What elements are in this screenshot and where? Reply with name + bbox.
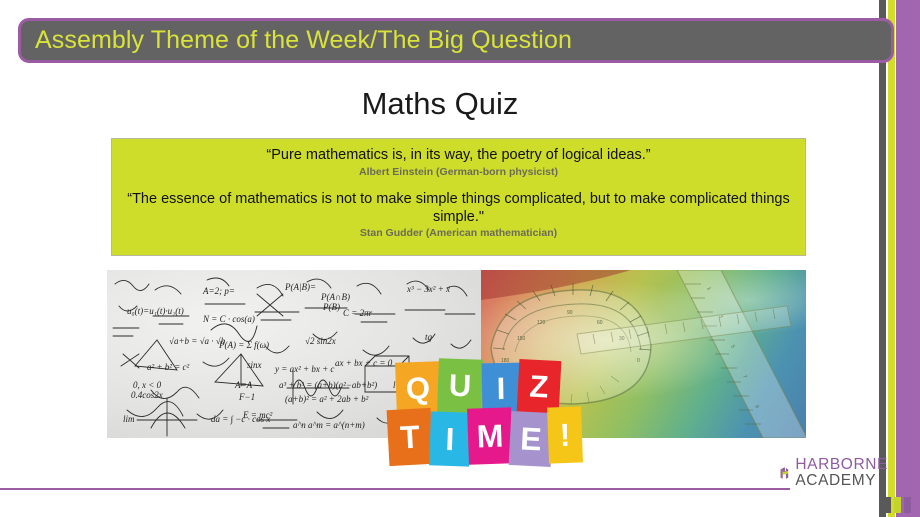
quiz-tile-T: T: [387, 408, 434, 466]
svg-text:120: 120: [537, 320, 546, 326]
harborne-academy-logo: HARBORNE ACADEMY: [780, 450, 888, 496]
svg-text:y = ax² + bx + c: y = ax² + bx + c: [274, 364, 334, 374]
svg-text:0.4cos2x: 0.4cos2x: [131, 390, 163, 400]
logo-line-academy: ACADEMY: [795, 473, 888, 489]
svg-text:0, x < 0: 0, x < 0: [133, 380, 162, 390]
accent-block-gray: [884, 497, 891, 513]
quiz-tile-U: U: [437, 358, 483, 414]
harborne-h-monogram-icon: [780, 452, 790, 494]
quiz-tile-exclamation: !: [547, 406, 583, 463]
logo-line-harborne: HARBORNE: [795, 457, 888, 473]
svg-text:0: 0: [637, 358, 640, 364]
svg-text:sinx: sinx: [247, 360, 262, 370]
svg-text:u₀(t)=u₁(t)·u₂(t): u₀(t)=u₁(t)·u₂(t): [127, 306, 184, 316]
svg-text:P(A|B)=: P(A|B)=: [284, 282, 316, 292]
svg-text:60: 60: [597, 320, 603, 326]
svg-text:a³ + b³ = (a+b)(a²−ab+b²): a³ + b³ = (a+b)(a²−ab+b²): [279, 380, 377, 390]
edge-stripe-gray: [879, 0, 886, 517]
svg-text:90: 90: [567, 310, 573, 316]
quote-item: “Pure mathematics is, in its way, the po…: [124, 147, 793, 179]
quiz-time-graphic: Q U I Z T I M E !: [394, 362, 580, 466]
quote-text: “The essence of mathematics is not to ma…: [124, 191, 793, 226]
logo-wordmark: HARBORNE ACADEMY: [795, 457, 888, 489]
header-banner: Assembly Theme of the Week/The Big Quest…: [18, 18, 894, 63]
quiz-tile-M: M: [467, 407, 513, 465]
svg-text:√a+b = √a · √b: √a+b = √a · √b: [169, 336, 226, 346]
svg-text:150: 150: [517, 336, 526, 342]
page-title: Maths Quiz: [0, 86, 880, 122]
edge-stripe-green: [888, 0, 895, 517]
svg-text:x³ − 3x² + x: x³ − 3x² + x: [406, 284, 450, 294]
svg-text:(a+b)² = a² + 2ab + b²: (a+b)² = a² + 2ab + b²: [285, 394, 369, 404]
quote-box: “Pure mathematics is, in its way, the po…: [111, 138, 806, 256]
quote-item: “The essence of mathematics is not to ma…: [124, 191, 793, 241]
svg-text:a^n a^m = a^(n+m): a^n a^m = a^(n+m): [293, 420, 365, 430]
quote-attribution: Stan Gudder (American mathematician): [124, 227, 793, 240]
quote-text: “Pure mathematics is, in its way, the po…: [124, 147, 793, 165]
svg-text:lim: lim: [123, 414, 135, 424]
svg-text:P(B): P(B): [322, 302, 340, 312]
footer-divider: [0, 488, 790, 490]
svg-text:√2 sin2x: √2 sin2x: [305, 336, 336, 346]
svg-text:A=A: A=A: [234, 380, 253, 390]
svg-text:P(A∩B): P(A∩B): [320, 292, 350, 302]
edge-stripe-purple: [896, 0, 920, 517]
header-title: Assembly Theme of the Week/The Big Quest…: [21, 28, 572, 53]
accent-block-purple: [904, 497, 911, 513]
svg-text:a² + b² = c²: a² + b² = c²: [147, 362, 190, 372]
svg-text:C = 2πr: C = 2πr: [343, 308, 373, 318]
svg-text:ax + bx + c = 0: ax + bx + c = 0: [335, 358, 393, 368]
quiz-tile-I2: I: [429, 411, 471, 466]
svg-text:A=2; p=: A=2; p=: [202, 286, 235, 296]
svg-text:da = ∫ −c · cos x: da = ∫ −c · cos x: [211, 414, 270, 425]
svg-text:N = C · cos(a): N = C · cos(a): [202, 314, 255, 324]
logo-accent-blocks: [884, 497, 911, 513]
presentation-slide: Assembly Theme of the Week/The Big Quest…: [0, 0, 920, 517]
accent-block-green: [894, 497, 901, 513]
quote-attribution: Albert Einstein (German-born physicist): [124, 166, 793, 179]
svg-text:tg: tg: [425, 332, 433, 342]
svg-text:P(A) = Σ f(ω): P(A) = Σ f(ω): [218, 340, 269, 350]
svg-text:F−1: F−1: [238, 392, 255, 402]
